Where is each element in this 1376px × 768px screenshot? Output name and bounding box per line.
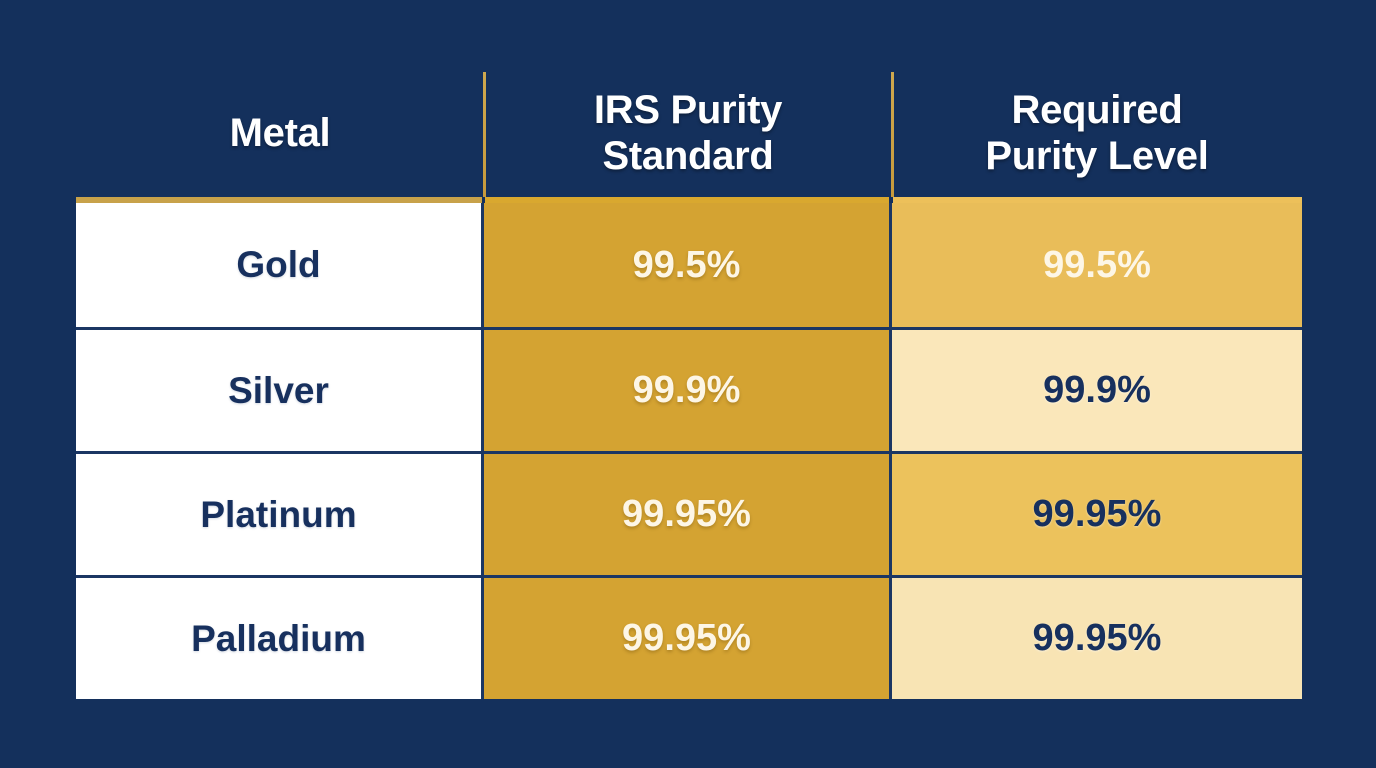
column-header-metal-line1: Metal [230,111,331,157]
column-header-required-purity-level: Required Purity Level [892,70,1302,197]
table-row: Silver 99.9% 99.9% [76,327,1302,451]
column-header-irs-line1: IRS Purity [594,88,782,132]
cell-required-purity-level: 99.95% [892,454,1302,575]
cell-irs-purity-standard: 99.95% [484,454,892,575]
header-divider-1 [483,72,486,197]
table-row: Gold 99.5% 99.5% [76,203,1302,327]
column-header-irs-purity-standard: IRS Purity Standard [484,70,892,197]
purity-comparison-table: Metal IRS Purity Standard Required Purit… [76,70,1302,694]
column-header-metal: Metal [76,70,484,197]
column-header-required-purity-text: Required Purity Level [985,88,1208,179]
cell-irs-purity-standard: 99.9% [484,330,892,451]
table-row: Palladium 99.95% 99.95% [76,575,1302,699]
column-header-irs-line2: Standard [603,134,774,178]
table-row: Platinum 99.95% 99.95% [76,451,1302,575]
table-body: Gold 99.5% 99.5% Silver 99.9% 99.9% Plat… [76,197,1302,694]
cell-required-purity-level: 99.5% [892,203,1302,327]
cell-metal: Platinum [76,454,484,575]
cell-required-purity-level: 99.9% [892,330,1302,451]
header-divider-2 [891,72,894,197]
table-header-row: Metal IRS Purity Standard Required Purit… [76,70,1302,197]
cell-required-purity-level: 99.95% [892,578,1302,699]
cell-metal: Palladium [76,578,484,699]
cell-metal: Silver [76,330,484,451]
infographic-canvas: Metal IRS Purity Standard Required Purit… [0,0,1376,768]
column-header-required-line2: Purity Level [985,134,1208,178]
cell-irs-purity-standard: 99.5% [484,203,892,327]
cell-metal: Gold [76,203,484,327]
column-header-required-line1: Required [1012,88,1183,132]
column-header-irs-purity-standard-text: IRS Purity Standard [594,88,782,179]
cell-irs-purity-standard: 99.95% [484,578,892,699]
